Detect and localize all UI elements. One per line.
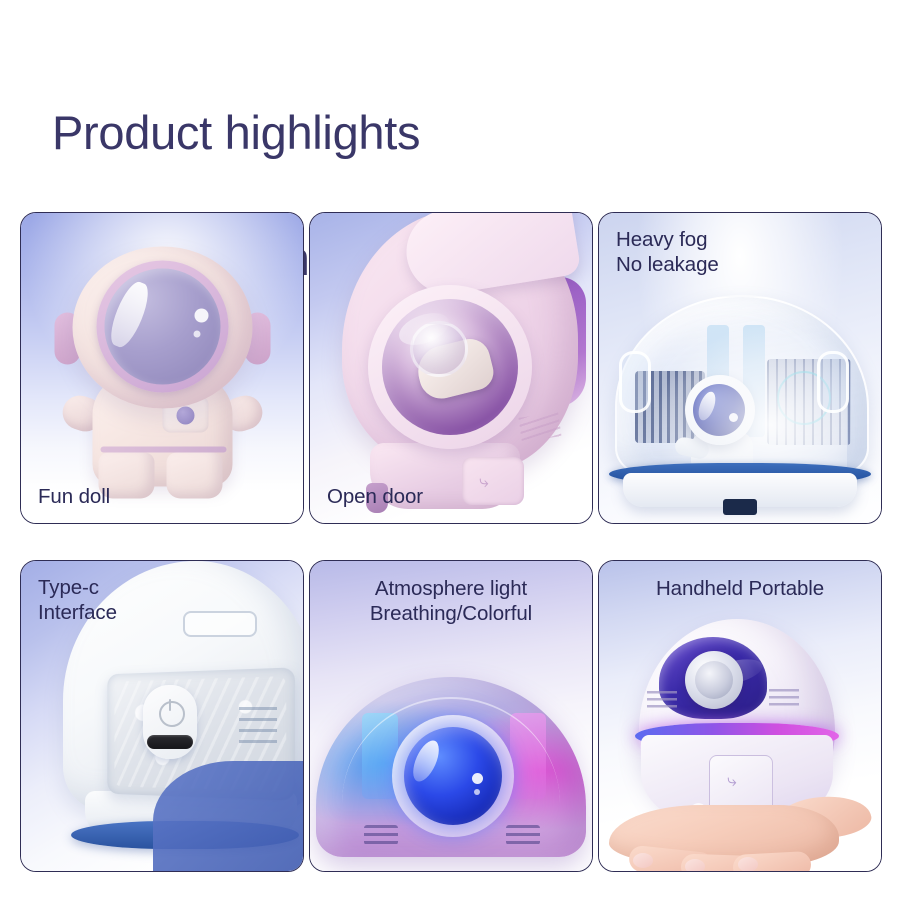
- card-label-fun-doll: Fun doll: [38, 484, 110, 509]
- highlights-grid: Fun doll: [20, 212, 880, 880]
- card-label-type-c-interface: Type-c Interface: [38, 575, 117, 625]
- highlight-card-heavy-fog[interactable]: Heavy fog No leakage: [598, 212, 882, 524]
- transparent-dome-illustration: [605, 295, 875, 513]
- open-palm-illustration: [599, 797, 881, 871]
- highlight-card-fun-doll[interactable]: Fun doll: [20, 212, 304, 524]
- card-label-atmosphere-light: Atmosphere light Breathing/Colorful: [310, 576, 592, 626]
- highlight-card-handheld-portable[interactable]: ⤷ Handheld Portable: [598, 560, 882, 872]
- product-highlights-page: Product highlights Silent and moisturizi…: [0, 0, 900, 900]
- power-button-icon: [159, 701, 185, 727]
- highlight-card-atmosphere-light[interactable]: Atmosphere light Breathing/Colorful: [309, 560, 593, 872]
- page-title-line-1: Product highlights: [52, 101, 852, 164]
- open-door-image: ⤷: [310, 213, 592, 523]
- handheld-portable-image: ⤷: [599, 561, 881, 871]
- glowing-dome-illustration: [310, 677, 592, 871]
- highlight-card-type-c-interface[interactable]: Type-c Interface: [20, 560, 304, 872]
- highlight-card-open-door[interactable]: ⤷ Open door: [309, 212, 593, 524]
- pink-capsule-humidifier-illustration: ⤷: [324, 219, 592, 519]
- card-label-handheld-portable: Handheld Portable: [599, 576, 881, 601]
- spray-button-icon: ⤷: [479, 473, 505, 491]
- usb-type-c-port-icon: [147, 735, 193, 749]
- card-label-heavy-fog: Heavy fog No leakage: [616, 227, 719, 277]
- spray-door-icon: ⤷: [727, 771, 753, 793]
- astronaut-doll-illustration: [55, 247, 270, 502]
- card-label-open-door: Open door: [327, 484, 423, 509]
- fun-doll-image: [21, 213, 303, 523]
